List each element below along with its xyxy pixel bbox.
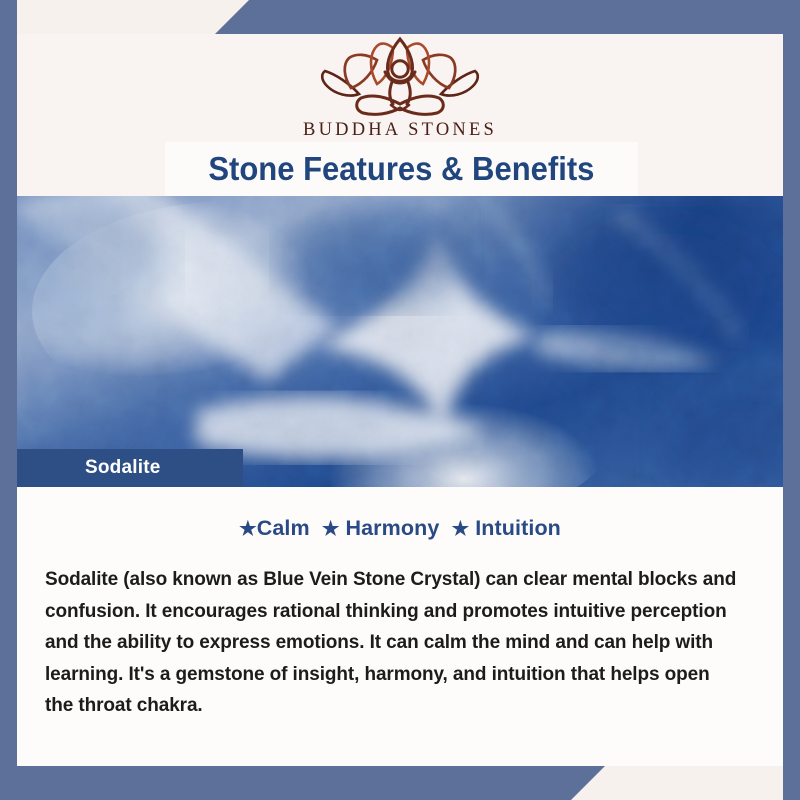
brand-logo: BUDDHA STONES <box>17 34 783 142</box>
star-icon: ★ <box>239 518 257 540</box>
frame-left-border <box>0 0 17 800</box>
keyword-list: ★Calm ★ Harmony ★ Intuition <box>17 516 783 541</box>
keyword-item-intuition: ★ Intuition <box>445 516 560 540</box>
sodalite-texture-image <box>17 196 783 487</box>
frame-top-wedge <box>215 0 800 34</box>
content-section: ★Calm ★ Harmony ★ Intuition Sodalite (al… <box>17 487 783 766</box>
lotus-meditation-figure-icon <box>315 36 485 118</box>
stone-name-label: Sodalite <box>17 449 243 487</box>
page-title: Stone Features & Benefits <box>208 150 594 188</box>
frame-right-border <box>783 0 800 800</box>
keyword-label-calm: Calm <box>257 516 310 540</box>
keyword-item-calm: ★Calm <box>239 516 310 540</box>
star-icon: ★ <box>322 518 340 540</box>
keyword-label-intuition: Intuition <box>475 516 561 540</box>
stone-photo <box>17 196 783 487</box>
keyword-label-harmony: Harmony <box>346 516 440 540</box>
star-icon: ★ <box>452 518 470 540</box>
frame-bottom-wedge <box>0 766 605 800</box>
description-text: Sodalite (also known as Blue Vein Stone … <box>45 564 742 722</box>
title-banner: Stone Features & Benefits <box>165 142 638 196</box>
stone-name-text: Sodalite <box>85 457 161 479</box>
keyword-item-harmony: ★ Harmony <box>316 516 440 540</box>
brand-name: BUDDHA STONES <box>303 120 497 141</box>
infographic-page: BUDDHA STONES Stone Features & Benefits <box>0 0 800 800</box>
